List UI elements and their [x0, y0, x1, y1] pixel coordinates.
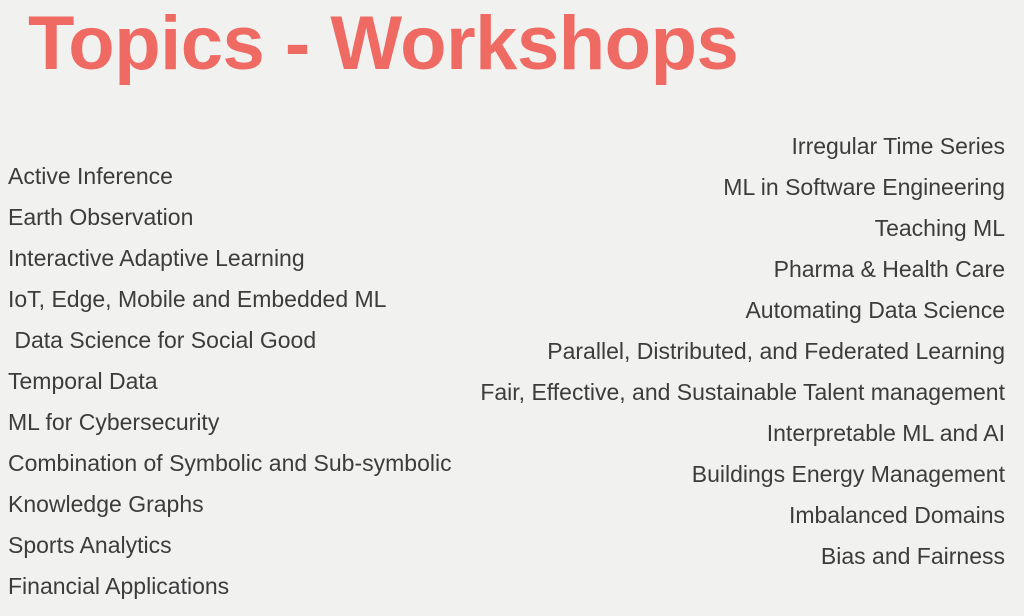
topic-item: ML in Software Engineering — [405, 167, 1005, 208]
topic-item: Bias and Fairness — [405, 536, 1005, 577]
page-title: Topics - Workshops — [28, 6, 738, 82]
topic-item: Buildings Energy Management — [405, 454, 1005, 495]
topic-item: Fair, Effective, and Sustainable Talent … — [405, 372, 1005, 413]
topic-item: Pharma & Health Care — [405, 249, 1005, 290]
topic-item: Teaching ML — [405, 208, 1005, 249]
topic-item: Automating Data Science — [405, 290, 1005, 331]
topic-item: Irregular Time Series — [405, 126, 1005, 167]
slide-canvas: Topics - Workshops Active Inference Eart… — [0, 0, 1024, 616]
topic-item: Interpretable ML and AI — [405, 413, 1005, 454]
topics-right-column: Irregular Time Series ML in Software Eng… — [405, 126, 1005, 577]
topic-item: Parallel, Distributed, and Federated Lea… — [405, 331, 1005, 372]
topic-item: Imbalanced Domains — [405, 495, 1005, 536]
